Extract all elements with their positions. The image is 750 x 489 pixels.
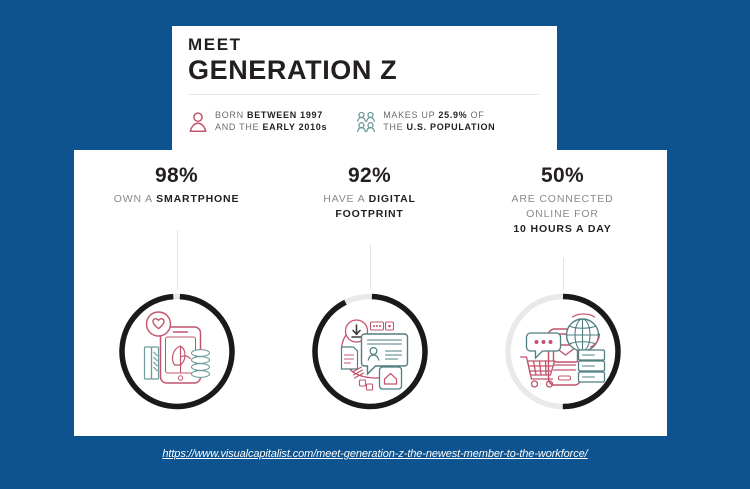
header-divider bbox=[188, 94, 539, 95]
stat2-l3-bold: 10 HOURS A DAY bbox=[513, 223, 611, 235]
title-eyebrow: MEET bbox=[188, 36, 541, 55]
connected-devices-illustration bbox=[520, 314, 604, 387]
stat-label-connected: ARE CONNECTED ONLINE FOR 10 HOURS A DAY bbox=[464, 192, 661, 237]
donut-ring-50 bbox=[500, 289, 625, 414]
fact-born: BORN BETWEEN 1997 AND THE EARLY 2010s bbox=[188, 110, 327, 134]
source-url-link[interactable]: https://www.visualcapitalist.com/meet-ge… bbox=[0, 448, 750, 460]
stat-label-smartphone: OWN A SMARTPHONE bbox=[78, 192, 275, 207]
fact-born-text: BORN BETWEEN 1997 AND THE EARLY 2010s bbox=[215, 110, 327, 134]
donut-ring-92 bbox=[307, 289, 432, 414]
stat-connector-line bbox=[563, 258, 564, 290]
digital-documents-illustration bbox=[341, 320, 407, 390]
stat2-l2-plain: ONLINE FOR bbox=[526, 208, 599, 220]
stat0-l1-plain: OWN A bbox=[114, 193, 156, 205]
person-icon bbox=[188, 111, 208, 133]
stat-percent-50: 50% bbox=[464, 164, 661, 188]
fact-population-text: MAKES UP 25.9% OF THE U.S. POPULATION bbox=[383, 110, 495, 134]
stat-percent-92: 92% bbox=[271, 164, 468, 188]
stat-column-smartphone: 98% OWN A SMARTPHONE bbox=[78, 150, 275, 436]
stat-column-connected: 50% ARE CONNECTED ONLINE FOR 10 HOURS A … bbox=[464, 150, 661, 436]
fact-born-l1-bold: BETWEEN 1997 bbox=[247, 110, 323, 120]
fact-born-l2-bold: EARLY 2010s bbox=[262, 122, 327, 132]
page-title-block: MEET GENERATION Z bbox=[188, 36, 541, 95]
fact-born-l1-plain: BORN bbox=[215, 110, 247, 120]
page-title: GENERATION Z bbox=[188, 56, 541, 84]
stats-panel: 98% OWN A SMARTPHONE bbox=[74, 150, 667, 436]
fact-pop-l2-bold: U.S. POPULATION bbox=[407, 122, 496, 132]
fact-born-l2-plain: AND THE bbox=[215, 122, 262, 132]
stat-column-footprint: 92% HAVE A DIGITAL FOOTPRINT bbox=[271, 150, 468, 436]
fact-row: BORN BETWEEN 1997 AND THE EARLY 2010s bbox=[188, 110, 495, 134]
header-panel: MEET GENERATION Z BORN BETWEEN 1997 AND … bbox=[172, 26, 557, 150]
stat1-l2-bold: FOOTPRINT bbox=[335, 208, 403, 220]
fact-pop-l2-plain: THE bbox=[383, 122, 406, 132]
people-group-icon bbox=[356, 111, 376, 133]
stats-columns: 98% OWN A SMARTPHONE bbox=[74, 150, 667, 436]
fact-population: MAKES UP 25.9% OF THE U.S. POPULATION bbox=[356, 110, 495, 134]
smartphone-health-illustration bbox=[144, 312, 209, 383]
stat2-l1-plain: ARE CONNECTED bbox=[511, 193, 613, 205]
stat0-l1-bold: SMARTPHONE bbox=[156, 193, 239, 205]
fact-pop-l1-plain: MAKES UP bbox=[383, 110, 438, 120]
stat1-l1-plain: HAVE A bbox=[323, 193, 368, 205]
donut-ring-98 bbox=[114, 289, 239, 414]
stat-label-footprint: HAVE A DIGITAL FOOTPRINT bbox=[271, 192, 468, 222]
stat1-l1-bold: DIGITAL bbox=[369, 193, 416, 205]
fact-pop-l1-tail: OF bbox=[467, 110, 484, 120]
stat-connector-line bbox=[370, 244, 371, 290]
stat-percent-98: 98% bbox=[78, 164, 275, 188]
stat-connector-line bbox=[177, 230, 178, 290]
slide-canvas: MEET GENERATION Z BORN BETWEEN 1997 AND … bbox=[0, 0, 750, 489]
fact-pop-l1-bold: 25.9% bbox=[438, 110, 467, 120]
